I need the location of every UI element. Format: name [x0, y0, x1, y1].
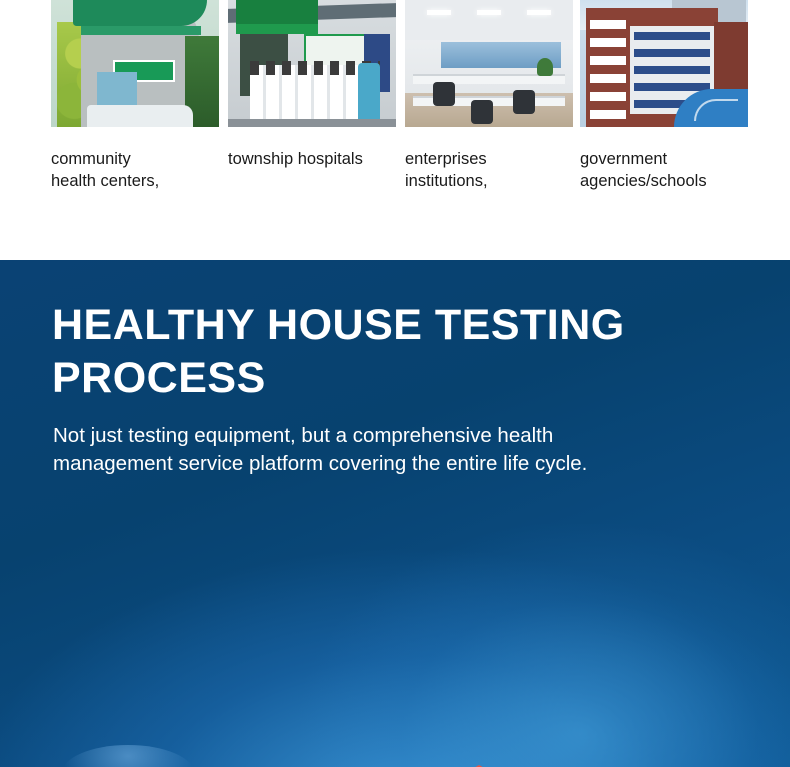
green-hospital-sign: [236, 0, 318, 24]
community-health-center-photo: [51, 0, 219, 127]
window-column: [590, 20, 626, 124]
ground: [228, 119, 396, 127]
green-signage-subband: [81, 26, 201, 35]
office-chair: [433, 82, 455, 106]
ceiling-lamp: [477, 10, 501, 15]
ceiling-lamp: [427, 10, 451, 15]
photo-caption: enterprises institutions,: [405, 148, 573, 192]
photo-caption: township hospitals: [228, 148, 396, 170]
partner-venues-section: community health centers, township hospi…: [0, 0, 790, 260]
hero-subtitle: Not just testing equipment, but a compre…: [53, 422, 733, 478]
healthy-house-process-hero: HEALTHY HOUSE TESTING PROCESS Not just t…: [0, 260, 790, 767]
parked-vehicle: [87, 105, 193, 127]
township-hospital-photo: [228, 0, 396, 127]
ceiling-lamp: [527, 10, 551, 15]
photo-card-enterprise-office: enterprises institutions,: [405, 0, 573, 192]
photo-card-community-health-center: community health centers,: [51, 0, 219, 192]
green-hospital-subsign: [236, 24, 318, 34]
potted-plant: [537, 58, 553, 76]
photo-card-government-school: government agencies/schools: [580, 0, 748, 192]
government-school-photo: [580, 0, 748, 127]
enterprise-institution-photo: [405, 0, 573, 127]
office-chair: [513, 90, 535, 114]
green-signage-band: [73, 0, 207, 26]
photo-card-township-hospital: township hospitals: [228, 0, 396, 170]
photo-caption: community health centers,: [51, 148, 219, 192]
staff-blue-gown: [358, 63, 380, 127]
photo-caption: government agencies/schools: [580, 148, 748, 192]
page-title: HEALTHY HOUSE TESTING PROCESS: [52, 299, 758, 405]
ceiling: [405, 0, 573, 40]
background-glow: [300, 524, 790, 767]
bottom-glow-ellipse: [62, 745, 194, 767]
office-chair: [471, 100, 493, 124]
